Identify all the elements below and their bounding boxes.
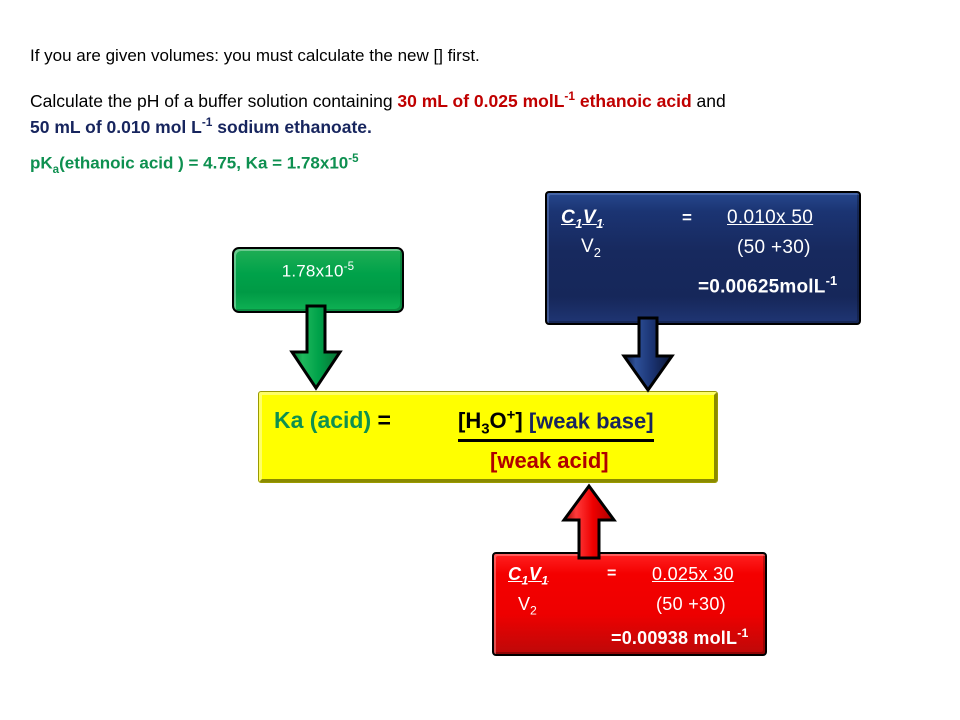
question-line2-a: 50 mL of 0.010 mol L bbox=[30, 117, 202, 137]
navy-v-symbol: V bbox=[583, 207, 596, 228]
navy-equals-sign: = bbox=[682, 208, 692, 228]
weak-base-term: [weak base] bbox=[523, 408, 654, 433]
red-up-arrow bbox=[558, 484, 620, 558]
question-text-line-2: 50 mL of 0.010 mol L-1 sodium ethanoate. bbox=[30, 116, 372, 137]
red-v-subscript: 1 bbox=[541, 574, 548, 588]
red-weak-acid-calculation-box: C1V1 V2 = 0.025x 30 (50 +30) =0.00938 mo… bbox=[492, 552, 767, 656]
navy-c-symbol: C bbox=[561, 207, 575, 228]
hydronium-open: [H bbox=[458, 408, 481, 433]
question-red-tail: ethanoic acid bbox=[575, 91, 692, 111]
green-ka-value-box: 1.78x10-5 bbox=[232, 247, 404, 313]
hydronium-term: [H3O+] bbox=[458, 408, 523, 433]
question-suffix: and bbox=[692, 91, 726, 111]
red-c-symbol: C bbox=[508, 564, 522, 584]
navy-result-value: =0.00625molL bbox=[698, 276, 826, 297]
navy-v2-symbol: V bbox=[581, 236, 594, 257]
navy-right-numerator: 0.010x 50 bbox=[727, 207, 813, 229]
navy-v-subscript: 1 bbox=[596, 216, 604, 231]
red-v2-symbol: V bbox=[518, 594, 530, 614]
navy-fraction: C1V1 V2 = 0.010x 50 (50 +30) =0.00625mol… bbox=[547, 193, 859, 323]
green-box-value: 1.78x10 bbox=[282, 262, 344, 281]
ka-label-text: Ka (acid) bbox=[274, 407, 371, 433]
red-result-value: =0.00938 molL bbox=[611, 628, 737, 648]
pka-text: pKa(ethanoic acid ) = 4.75, Ka = 1.78x10… bbox=[30, 153, 359, 177]
navy-right-denominator: (50 +30) bbox=[737, 237, 811, 259]
red-result-superscript: -1 bbox=[737, 626, 748, 640]
red-result: =0.00938 molL-1 bbox=[611, 626, 748, 649]
navy-weak-base-calculation-box: C1V1 V2 = 0.010x 50 (50 +30) =0.00625mol… bbox=[545, 191, 861, 325]
ka-denominator: [weak acid] bbox=[490, 448, 609, 474]
navy-left-numerator: C1V1 bbox=[561, 207, 604, 231]
navy-c-subscript: 1 bbox=[575, 216, 583, 231]
pka-superscript: -5 bbox=[348, 153, 358, 165]
red-right-numerator: 0.025x 30 bbox=[652, 564, 734, 585]
question-text-line-1: Calculate the pH of a buffer solution co… bbox=[30, 90, 726, 111]
yellow-ka-expression-box: Ka (acid) = [H3O+] [weak base] [weak aci… bbox=[259, 392, 717, 482]
ka-label: Ka (acid) = bbox=[274, 407, 391, 434]
question-red-superscript: -1 bbox=[564, 89, 575, 103]
pka-prefix: pK bbox=[30, 154, 53, 173]
navy-v2-subscript: 2 bbox=[594, 245, 601, 260]
red-c-subscript: 1 bbox=[522, 574, 529, 588]
red-v2-subscript: 2 bbox=[530, 604, 537, 618]
intro-text: If you are given volumes: you must calcu… bbox=[30, 47, 480, 66]
red-equals-sign: = bbox=[607, 565, 616, 583]
ka-numerator: [H3O+] [weak base] bbox=[458, 407, 654, 442]
green-box-value-superscript: -5 bbox=[344, 261, 355, 273]
red-left-numerator: C1V1 bbox=[508, 564, 549, 588]
red-right-denominator: (50 +30) bbox=[656, 594, 726, 615]
pka-body: (ethanoic acid ) = 4.75, Ka = 1.78x10 bbox=[59, 154, 348, 173]
red-left-denominator: V2 bbox=[518, 594, 537, 618]
slide-canvas: If you are given volumes: you must calcu… bbox=[0, 0, 960, 720]
question-prefix: Calculate the pH of a buffer solution co… bbox=[30, 91, 397, 111]
hydronium-close: ] bbox=[515, 408, 522, 433]
navy-result: =0.00625molL-1 bbox=[698, 273, 837, 298]
red-v-symbol: V bbox=[529, 564, 542, 584]
hydronium-subscript: 3 bbox=[481, 421, 489, 438]
red-fraction: C1V1 V2 = 0.025x 30 (50 +30) =0.00938 mo… bbox=[494, 554, 765, 654]
question-line2-superscript: -1 bbox=[202, 115, 213, 129]
question-line2-b: sodium ethanoate. bbox=[212, 117, 371, 137]
navy-result-superscript: -1 bbox=[826, 273, 838, 288]
question-red-text: 30 mL of 0.025 molL bbox=[397, 91, 564, 111]
navy-left-denominator: V2 bbox=[581, 236, 601, 260]
question-red-segment: 30 mL of 0.025 molL-1 ethanoic acid bbox=[397, 91, 691, 111]
green-down-arrow bbox=[286, 306, 346, 392]
navy-down-arrow bbox=[618, 318, 678, 394]
green-box-text: 1.78x10-5 bbox=[234, 261, 402, 282]
hydronium-o: O bbox=[490, 408, 507, 433]
ka-equals-sign: = bbox=[371, 407, 391, 433]
